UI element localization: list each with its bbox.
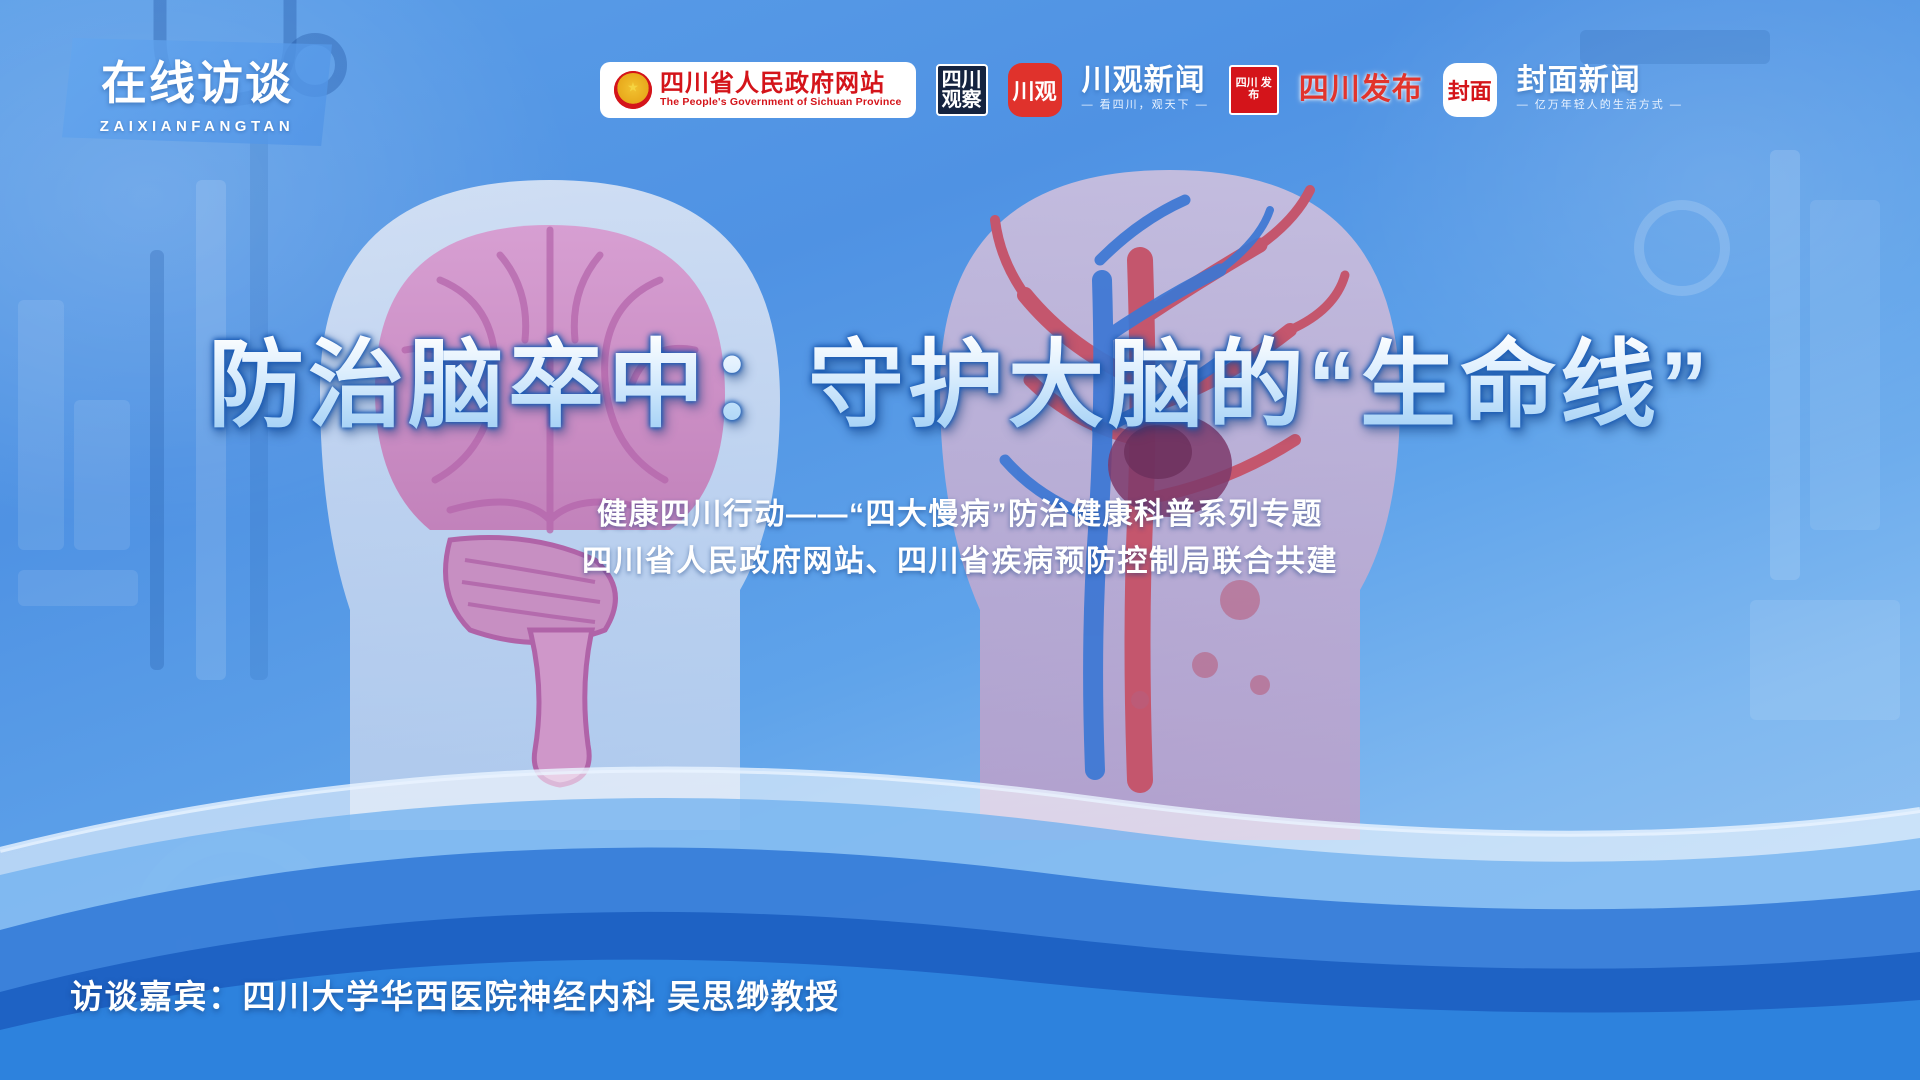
logo-cover-news-badge[interactable]: 封面 (1443, 63, 1497, 117)
partner-logo-row: 四川省人民政府网站 The People's Government of Sic… (600, 62, 1683, 118)
logo-cover-news[interactable]: 封面新闻 — 亿万年轻人的生活方式 — (1517, 65, 1683, 114)
sichuan-release-seal-icon[interactable]: 四川 发布 (1229, 65, 1279, 115)
logo-chuanguan-news[interactable]: 川观新闻 — 看四川，观天下 — (1082, 65, 1209, 114)
national-emblem-icon (614, 71, 652, 109)
logo-sichuan-gov[interactable]: 四川省人民政府网站 The People's Government of Sic… (600, 62, 916, 118)
logo-sichuan-observation-line2: 观察 (942, 90, 982, 110)
sichuan-release-seal-text: 四川 发布 (1231, 78, 1277, 101)
logo-sichuan-observation[interactable]: 四川 观察 (936, 64, 988, 116)
logo-sichuan-gov-subtitle: The People's Government of Sichuan Provi… (660, 96, 902, 109)
header-bar: 在线访谈 ZAIXIANFANGTAN 四川省人民政府网站 The People… (0, 0, 1920, 160)
poster-canvas: 在线访谈 ZAIXIANFANGTAN 四川省人民政府网站 The People… (0, 0, 1920, 1080)
logo-chuanguan-news-tagline: — 看四川，观天下 — (1082, 97, 1209, 115)
logo-sichuan-release-title: 四川发布 (1299, 74, 1423, 106)
guest-line: 访谈嘉宾：四川大学华西医院神经内科 吴思缈教授 (70, 970, 840, 1018)
logo-sichuan-release[interactable]: 四川发布 (1299, 74, 1423, 106)
logo-cover-news-badge-text: 封面 (1448, 74, 1492, 106)
decorative-ring-1 (1634, 200, 1730, 296)
logo-cover-news-tagline: — 亿万年轻人的生活方式 — (1517, 97, 1683, 115)
subtitle-block: 健康四川行动——“四大慢病”防治健康科普系列专题 四川省人民政府网站、四川省疾病… (0, 492, 1920, 585)
logo-cover-news-title: 封面新闻 (1517, 65, 1683, 97)
program-logo: 在线访谈 ZAIXIANFANGTAN (62, 38, 332, 146)
logo-chuanguan-news-title: 川观新闻 (1082, 65, 1209, 97)
subtitle-line-2: 四川省人民政府网站、四川省疾病预防控制局联合共建 (0, 539, 1920, 586)
logo-chuanguan-badge-text: 川观 (1013, 74, 1057, 106)
logo-sichuan-observation-line1: 四川 (942, 70, 982, 90)
logo-sichuan-gov-title: 四川省人民政府网站 (660, 71, 902, 96)
subtitle-line-1: 健康四川行动——“四大慢病”防治健康科普系列专题 (0, 492, 1920, 539)
logo-chuanguan-badge[interactable]: 川观 (1008, 63, 1062, 117)
program-logo-title: 在线访谈 (62, 38, 332, 106)
program-logo-subtitle: ZAIXIANFANGTAN (62, 106, 332, 135)
page-title: 防治脑卒中：守护大脑的“生命线” (0, 332, 1920, 440)
